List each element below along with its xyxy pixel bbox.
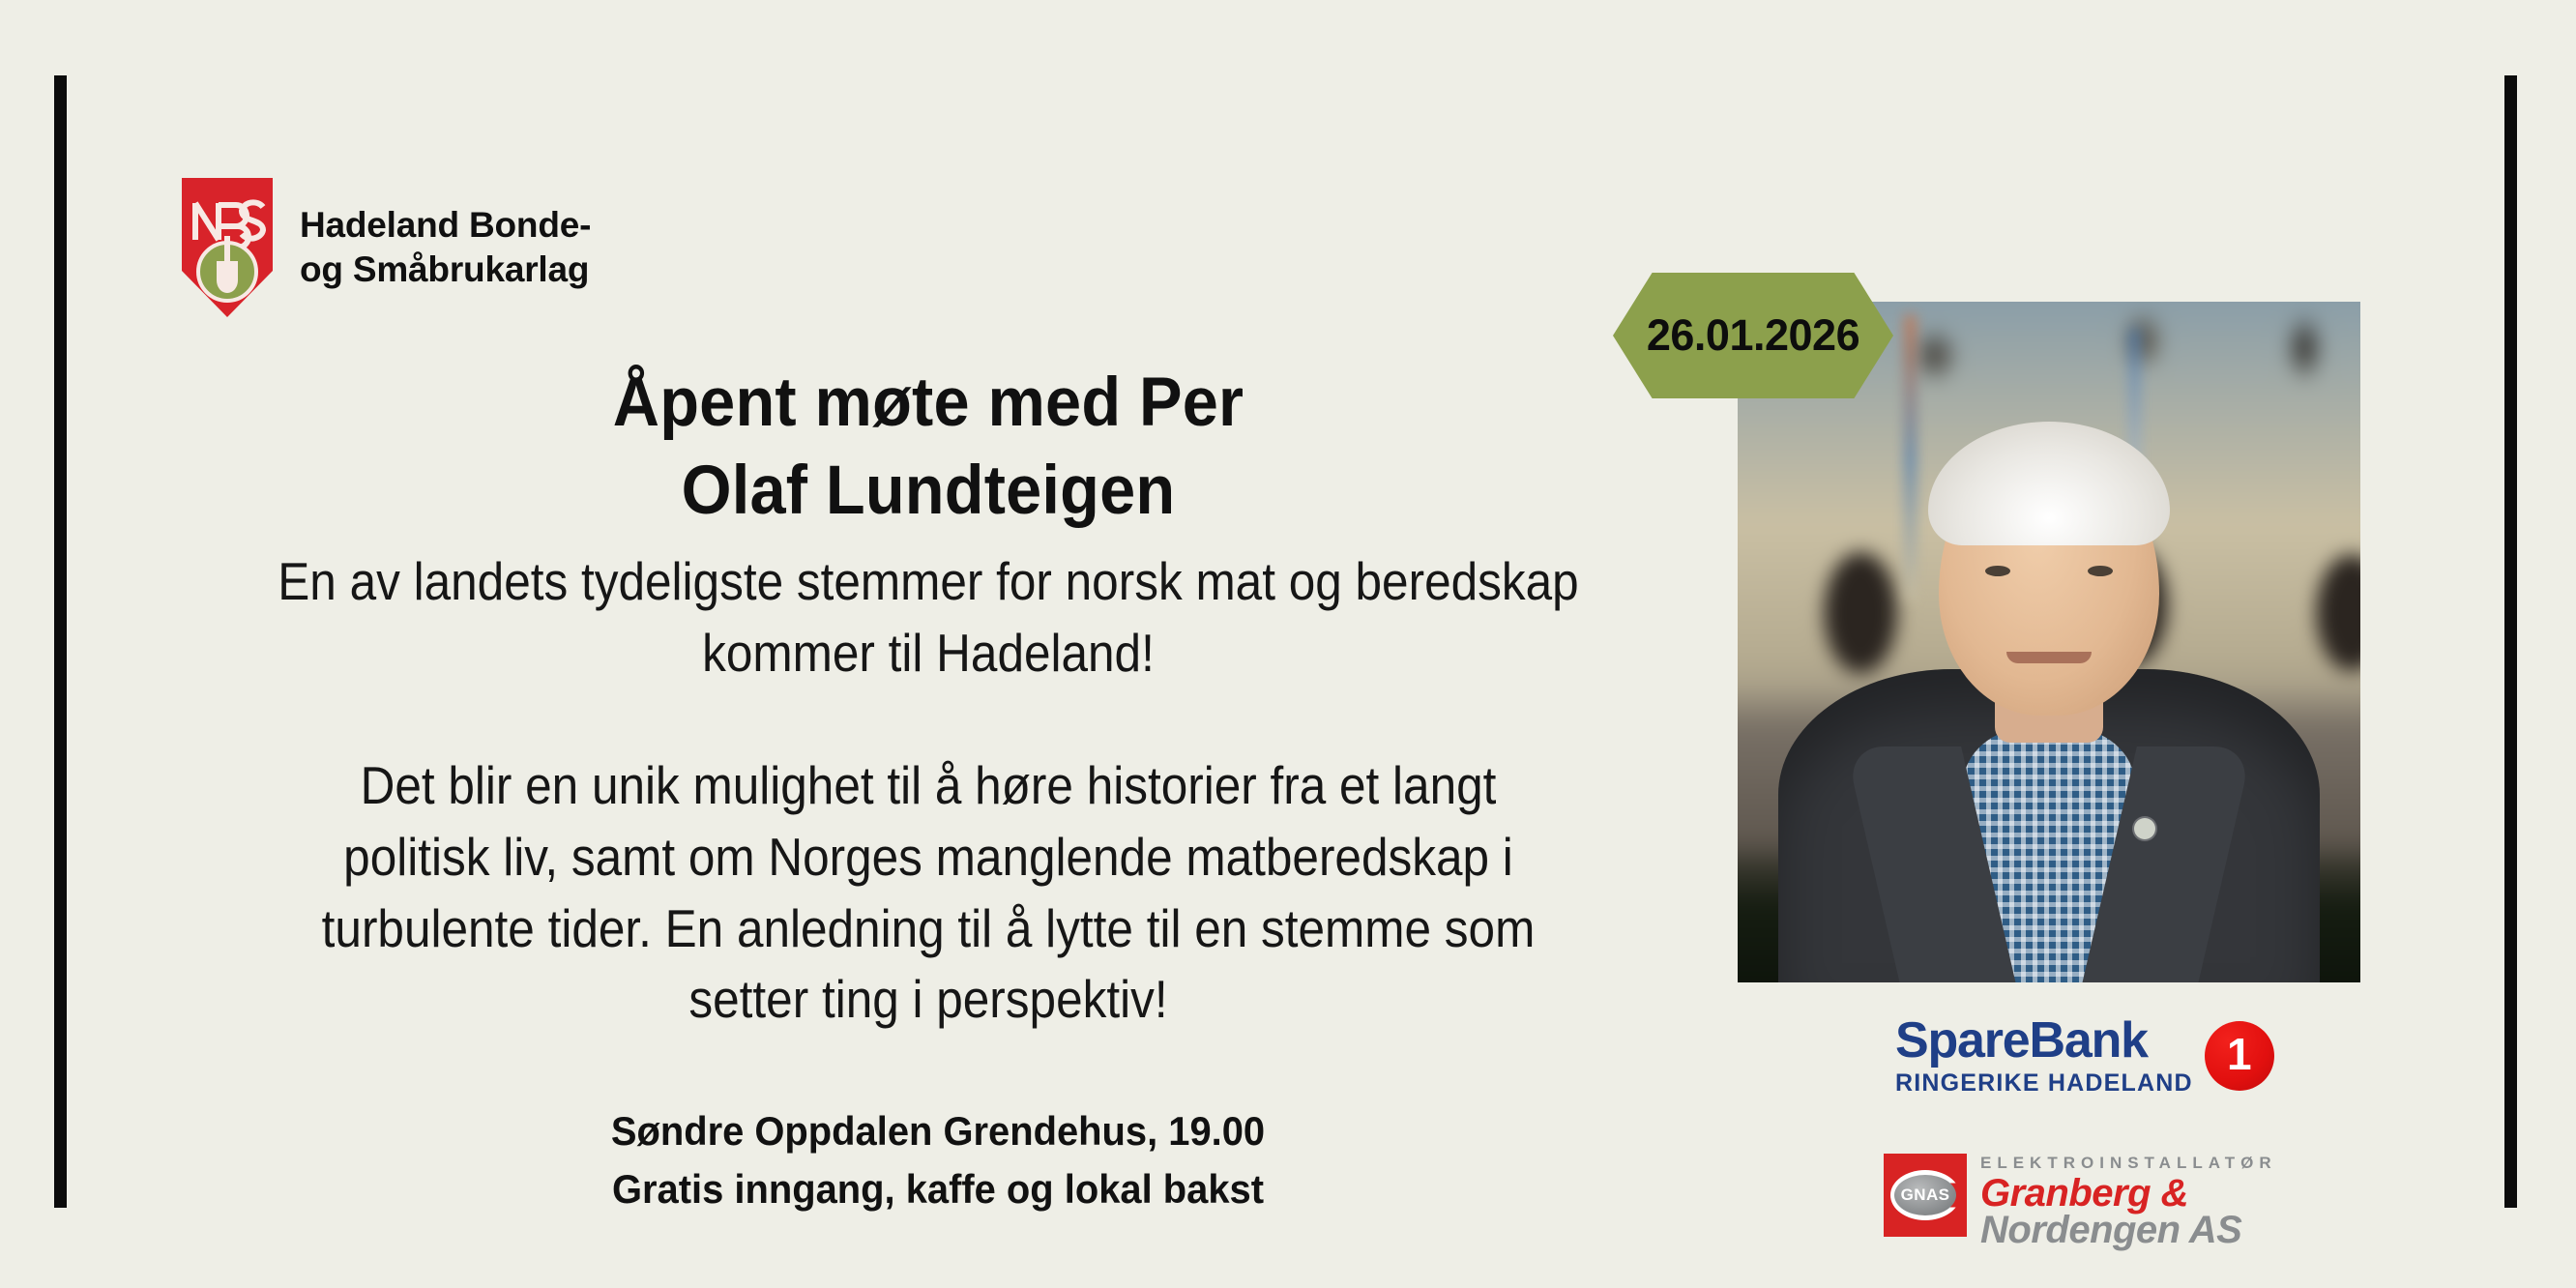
granberg-line-2: Nordengen AS — [1980, 1212, 2277, 1248]
photo-eye-right — [2088, 566, 2113, 576]
photo-person — [1738, 302, 2360, 982]
nbs-shield-icon — [180, 176, 275, 319]
granberg-wordmark: ELEKTROINSTALLATØR Granberg & Nordengen … — [1980, 1154, 2277, 1248]
organisation-name: Hadeland Bonde- og Småbrukarlag — [300, 203, 591, 292]
paragraph-spacer — [223, 688, 1633, 750]
granberg-kicker: ELEKTROINSTALLATØR — [1980, 1154, 2277, 1173]
sparebank-wordmark: SpareBank RINGERIKE HADELAND — [1895, 1017, 2193, 1098]
sponsor-granberg-nordengen-logo: GNAS ELEKTROINSTALLATØR Granberg & Norde… — [1884, 1154, 2277, 1248]
gnas-mark-icon: GNAS — [1884, 1154, 1967, 1237]
left-vertical-rule — [54, 75, 67, 1208]
event-details: Søndre Oppdalen Grendehus, 19.00 Gratis … — [350, 1102, 1526, 1217]
body-paragraph-2: Det blir en unik mulighet til å høre his… — [223, 750, 1633, 1036]
photo-eye-left — [1985, 566, 2010, 576]
photo-mouth — [2006, 652, 2092, 663]
body-paragraph-1: En av landets tydeligste stemmer for nor… — [223, 546, 1633, 688]
gnas-oval: GNAS — [1894, 1175, 1956, 1215]
speaker-portrait-photo — [1738, 302, 2360, 982]
body-copy: En av landets tydeligste stemmer for nor… — [223, 546, 1633, 1036]
event-poster: Hadeland Bonde- og Småbrukarlag Åpent mø… — [0, 0, 2576, 1288]
date-badge-text: 26.01.2026 — [1647, 310, 1859, 361]
photo-hair — [1928, 422, 2170, 545]
sponsor-sparebank1-logo: SpareBank RINGERIKE HADELAND 1 — [1895, 1017, 2274, 1098]
gnas-mark-text: GNAS — [1901, 1186, 1950, 1205]
page-title: Åpent møte med Per Olaf Lundteigen — [228, 360, 1628, 536]
granberg-line-1: Granberg & — [1980, 1175, 2277, 1212]
sparebank-region: RINGERIKE HADELAND — [1895, 1069, 2193, 1098]
right-vertical-rule — [2504, 75, 2517, 1208]
photo-lapel-pin — [2134, 818, 2155, 839]
sparebank-name: SpareBank — [1895, 1017, 2193, 1066]
organisation-logo-block: Hadeland Bonde- og Småbrukarlag — [180, 176, 591, 319]
sparebank-one-digit: 1 — [2227, 1032, 2252, 1076]
sparebank-one-badge-icon: 1 — [2205, 1021, 2274, 1091]
date-badge: 26.01.2026 — [1613, 273, 1893, 398]
